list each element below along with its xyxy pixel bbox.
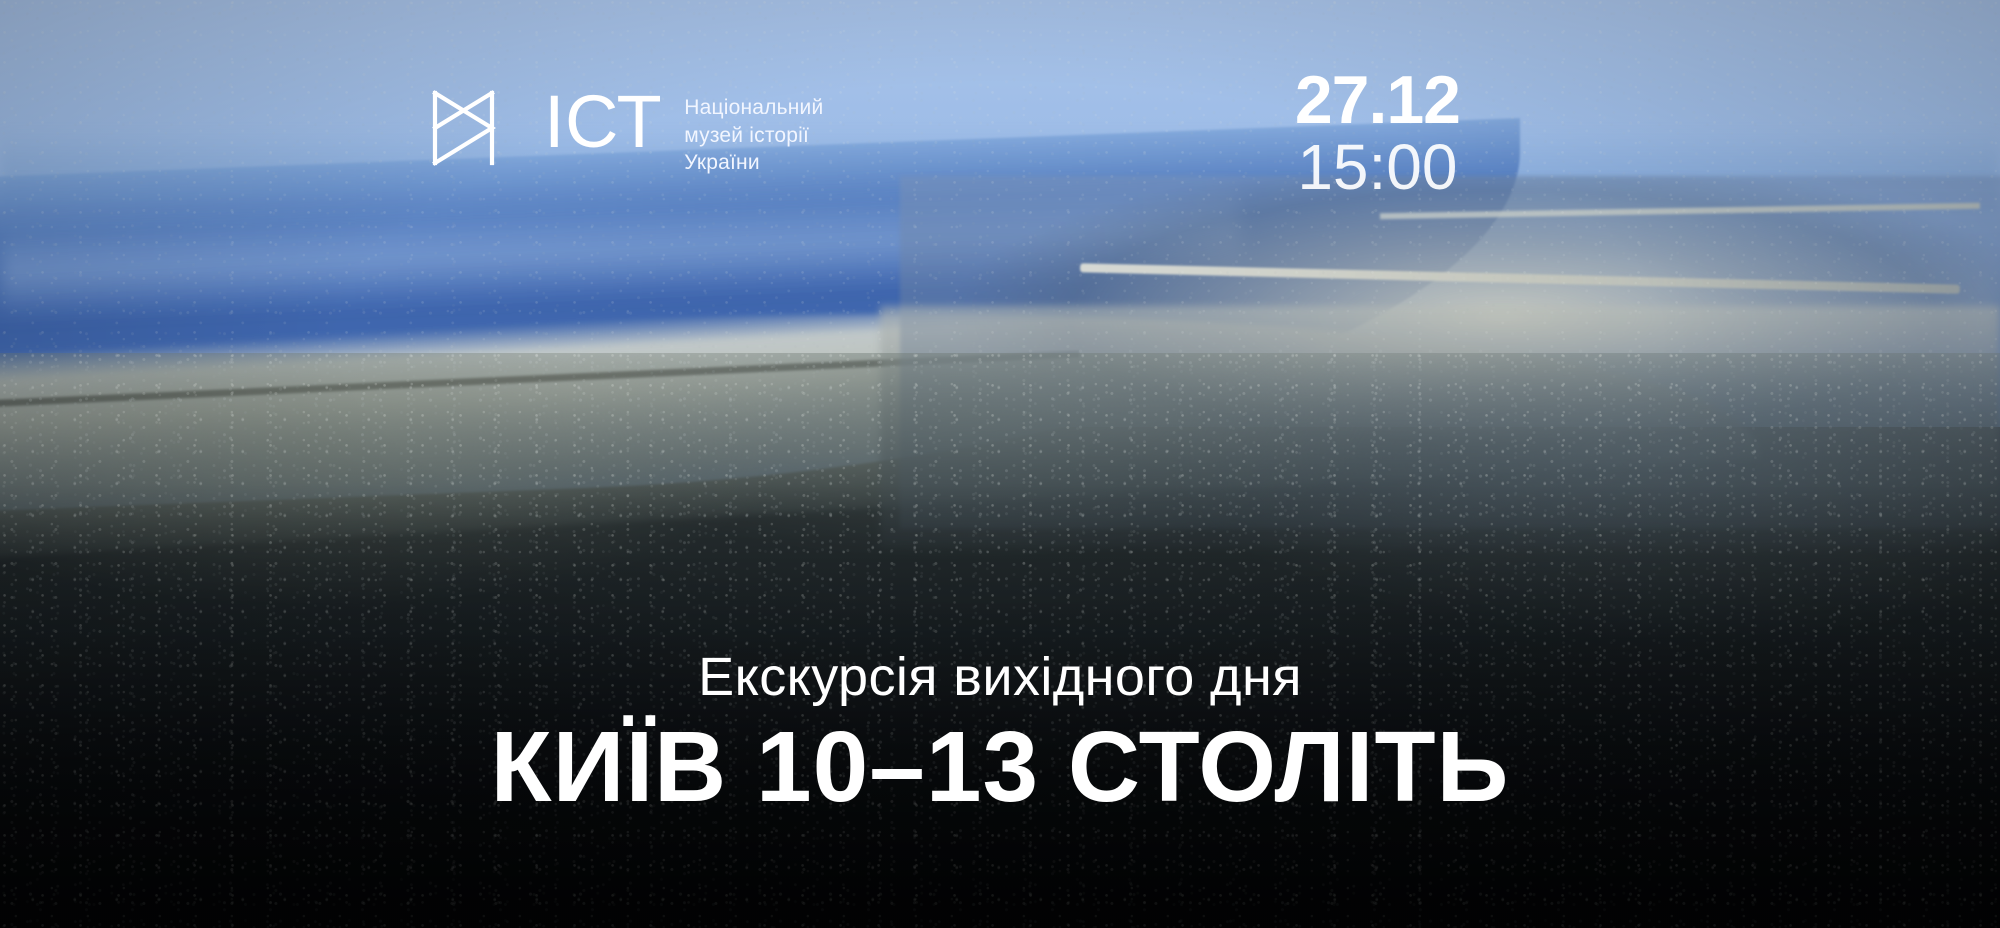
event-date: 27.12 bbox=[1295, 66, 1460, 134]
event-time: 15:00 bbox=[1295, 134, 1460, 201]
event-datetime: 27.12 15:00 bbox=[1295, 66, 1460, 201]
wordmark-block: ІСТ bbox=[548, 88, 662, 156]
event-banner: ІСТ Національний музей історії України 2… bbox=[0, 0, 2000, 928]
headline-block: Екскурсія вихідного дня КИЇВ 10–13 СТОЛІ… bbox=[150, 647, 1850, 820]
museum-full-name: Національний музей історії України bbox=[684, 94, 823, 177]
event-kicker: Екскурсія вихідного дня bbox=[150, 647, 1850, 707]
museum-logo[interactable]: ІСТ Національний музей історії України bbox=[430, 88, 823, 177]
wordmark-text: ІСТ bbox=[544, 88, 662, 156]
event-title: КИЇВ 10–13 СТОЛІТЬ bbox=[150, 715, 1850, 820]
museum-m-monogram-icon bbox=[430, 88, 526, 168]
